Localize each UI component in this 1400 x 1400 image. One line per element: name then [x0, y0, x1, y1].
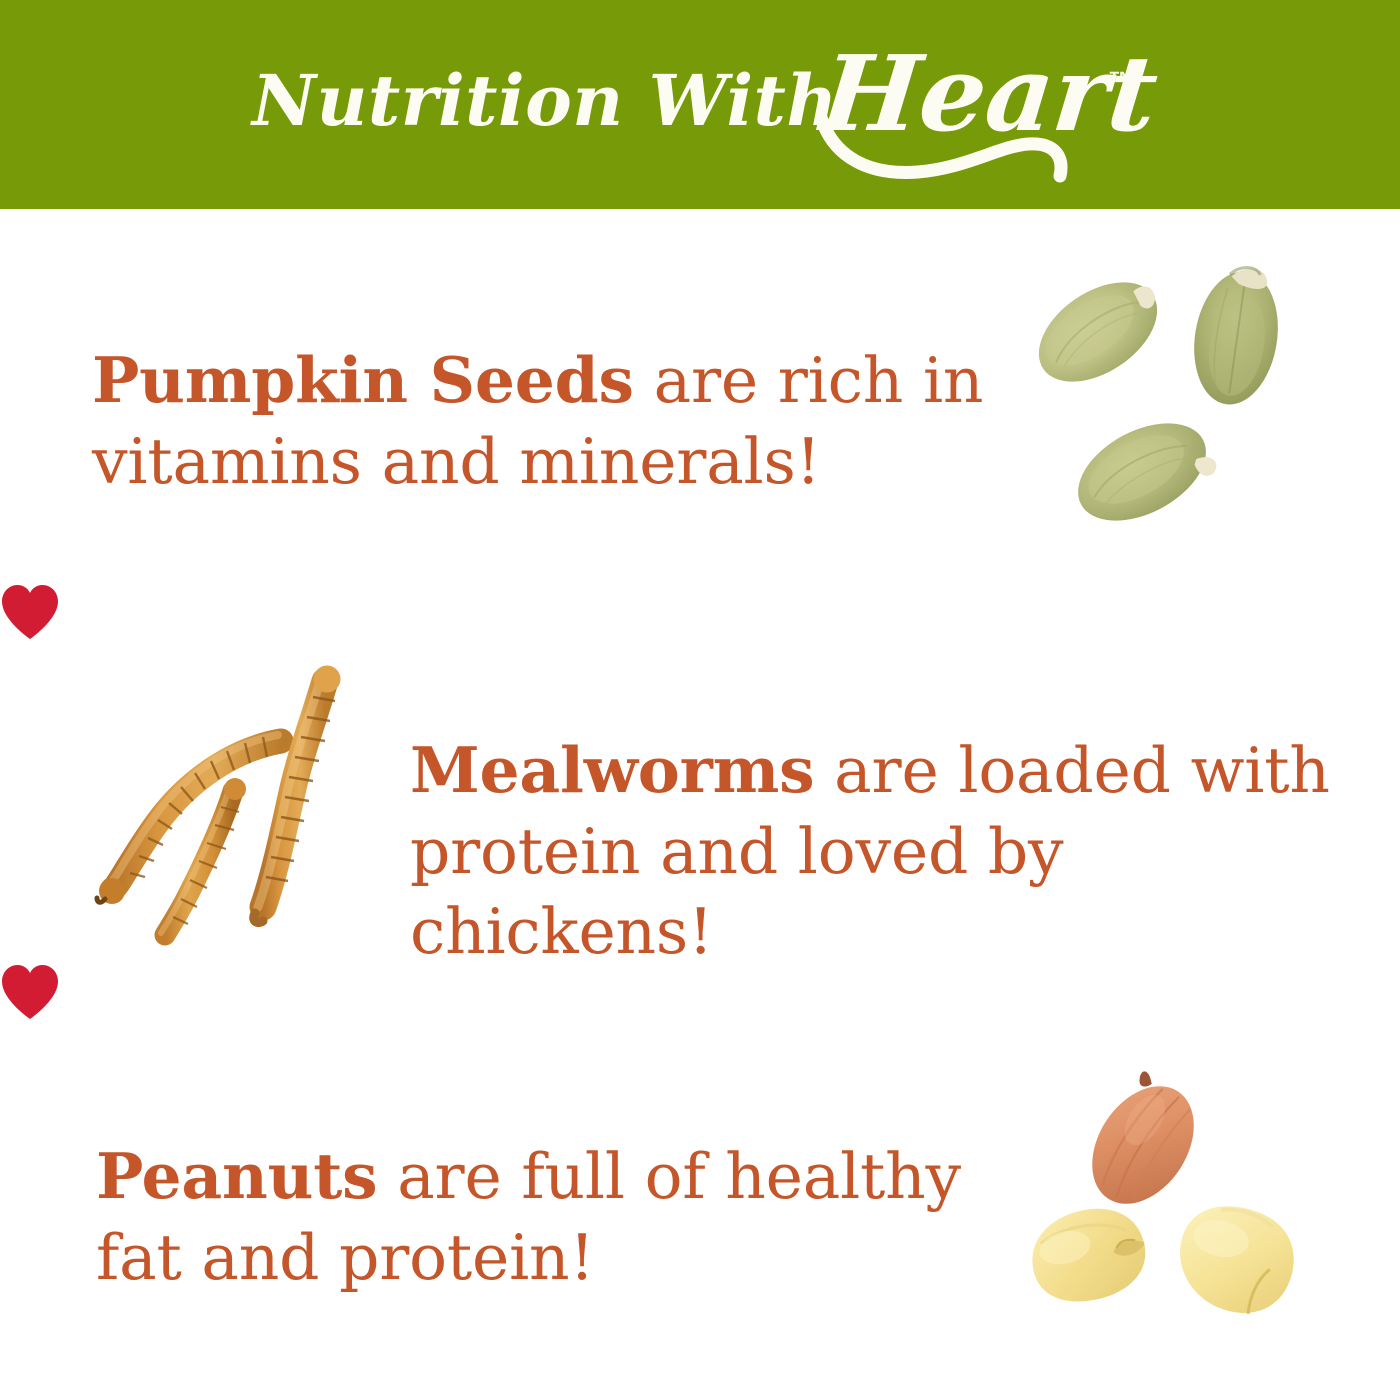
mealworms-photo: [85, 663, 375, 953]
header-banner: Nutrition With Heart ™: [0, 0, 1400, 209]
claim-lead-pumpkin-seeds: Pumpkin Seeds: [92, 343, 634, 417]
heart-icon: [0, 963, 60, 1021]
claim-text-pumpkin-seeds: Pumpkin Seeds are rich in vitamins and m…: [92, 340, 992, 502]
claim-lead-peanuts: Peanuts: [96, 1139, 377, 1213]
divider-heart-1: [0, 583, 1400, 641]
heart-icon: [0, 583, 60, 641]
claim-text-peanuts: Peanuts are full of healthy fat and prot…: [96, 1136, 996, 1298]
trademark-symbol: ™: [1108, 68, 1136, 96]
claim-text-mealworms: Mealworms are loaded with protein and lo…: [410, 730, 1340, 973]
page-title-plain: Nutrition With: [252, 66, 838, 136]
claim-lead-mealworms: Mealworms: [410, 733, 814, 807]
pumpkin-seeds-photo: [1030, 272, 1330, 552]
script-swash-icon: [814, 110, 1104, 182]
brand-script-lockup: Heart ™: [822, 34, 1182, 184]
header-title-group: Nutrition With Heart ™: [0, 0, 1400, 209]
peanuts-photo: [1005, 1070, 1335, 1325]
divider-heart-2: [0, 963, 1400, 1021]
nutrition-infographic: Nutrition With Heart ™ Pumpkin Seeds are…: [0, 0, 1400, 1400]
